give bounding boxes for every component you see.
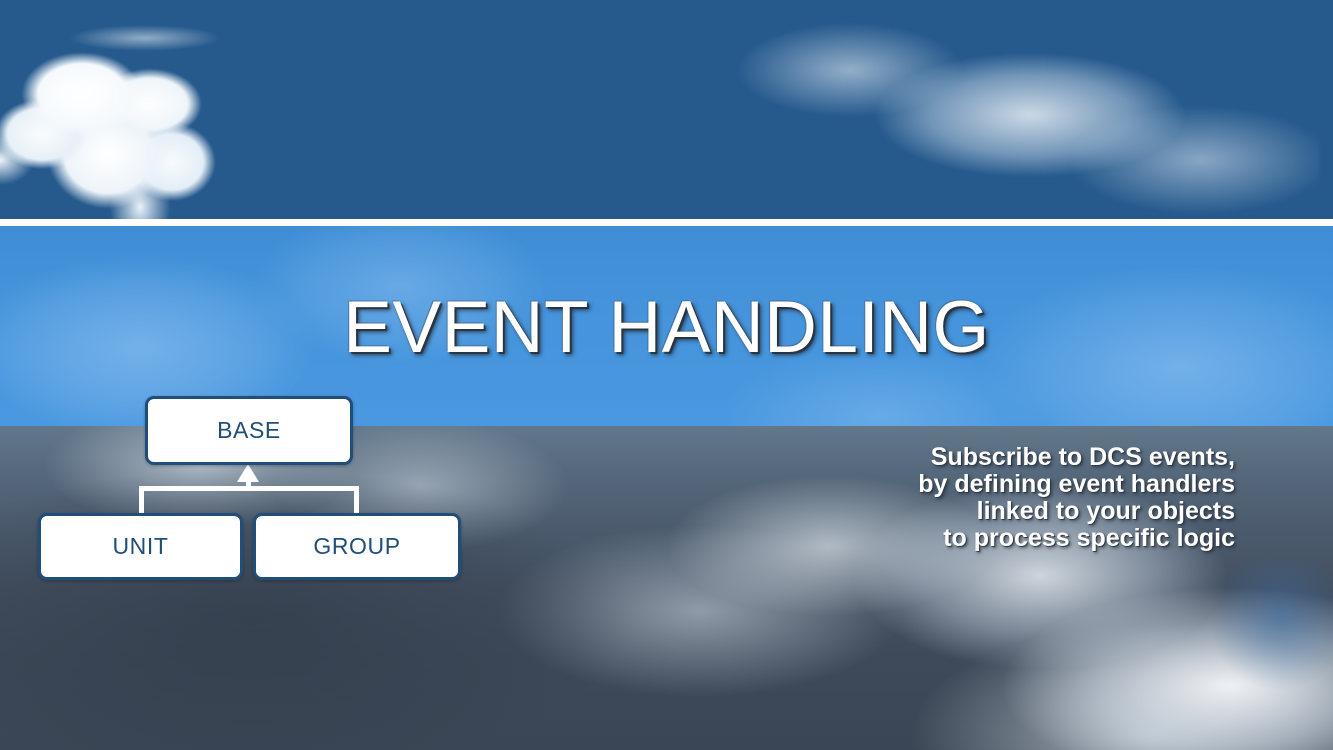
class-diagram: BASE UNIT GROUP <box>0 0 1333 750</box>
class-node-unit[interactable]: UNIT <box>38 513 243 580</box>
class-node-group[interactable]: GROUP <box>253 513 461 580</box>
class-node-base[interactable]: BASE <box>145 396 353 465</box>
slide-root: EVENT HANDLING Subscribe to DCS events, … <box>0 0 1333 750</box>
connector-vertical-unit <box>139 486 144 516</box>
connector-vertical-group <box>354 486 359 516</box>
inheritance-arrow-icon <box>237 464 259 482</box>
